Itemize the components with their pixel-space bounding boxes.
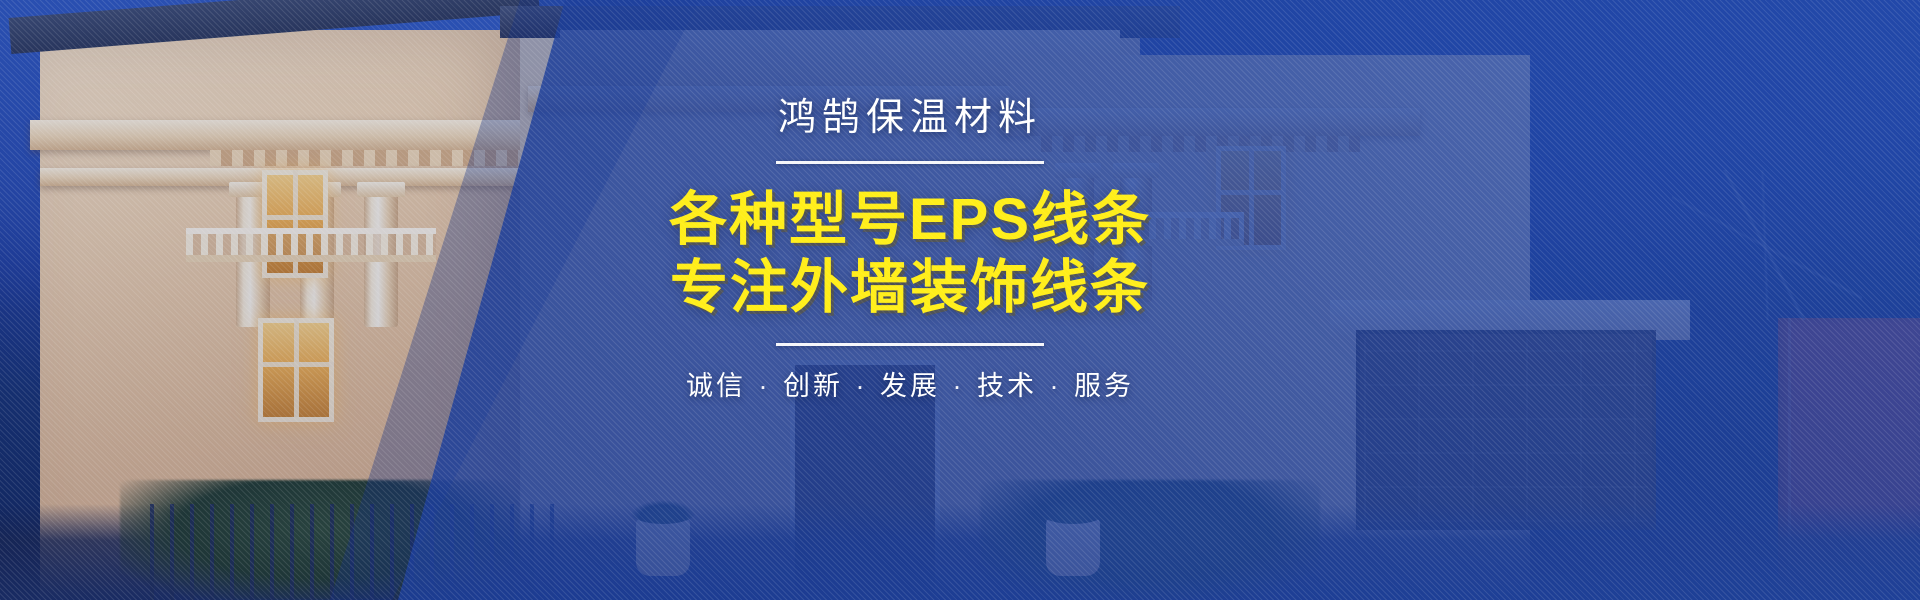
tagline: 诚信 · 创新 · 发展 · 技术 · 服务 bbox=[560, 364, 1260, 403]
tagline-item: 发展 bbox=[880, 371, 940, 401]
headline-line-1: 各种型号EPS线条 bbox=[560, 186, 1260, 254]
banner-content: 鸿鹄保温材料 各种型号EPS线条 专注外墙装饰线条 诚信 · 创新 · 发展 ·… bbox=[560, 96, 1260, 403]
headline: 各种型号EPS线条 专注外墙装饰线条 bbox=[560, 186, 1260, 323]
tagline-item: 诚信 bbox=[686, 371, 746, 401]
hero-banner: 鸿鹄保温材料 各种型号EPS线条 专注外墙装饰线条 诚信 · 创新 · 发展 ·… bbox=[0, 0, 1920, 600]
tagline-separator: · bbox=[940, 371, 977, 401]
tagline-separator: · bbox=[746, 371, 783, 401]
tagline-item: 服务 bbox=[1074, 371, 1134, 401]
divider-bottom-icon bbox=[776, 343, 1044, 346]
tagline-separator: · bbox=[843, 371, 880, 401]
tagline-separator: · bbox=[1037, 371, 1074, 401]
divider-top-icon bbox=[776, 161, 1044, 164]
tagline-item: 技术 bbox=[977, 371, 1037, 401]
brand-name: 鸿鹄保温材料 bbox=[560, 96, 1260, 141]
headline-line-2: 专注外墙装饰线条 bbox=[560, 254, 1260, 322]
tagline-item: 创新 bbox=[783, 371, 843, 401]
